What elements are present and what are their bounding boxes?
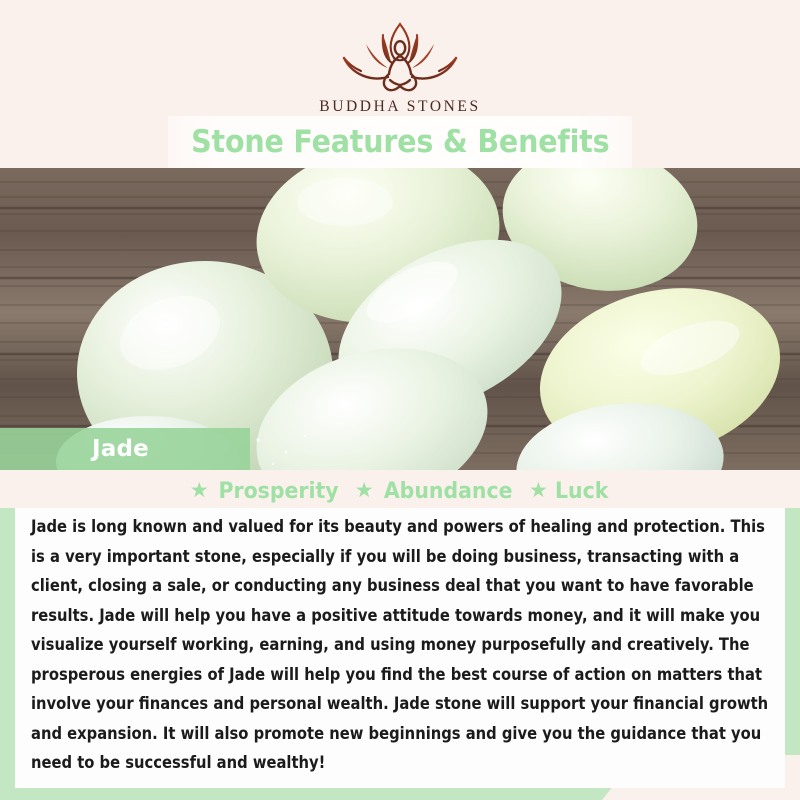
star-icon: ★ — [355, 480, 374, 501]
card-content: ★ Prosperity ★ Abundance ★ Luck Jade is … — [0, 470, 800, 800]
benefit-item: ★ Luck — [529, 479, 610, 504]
description-text: Jade is long known and valued for its be… — [31, 512, 770, 778]
star-icon: ★ — [190, 480, 209, 501]
benefit-label: Prosperity — [218, 479, 338, 504]
benefits-row: ★ Prosperity ★ Abundance ★ Luck — [0, 470, 800, 508]
brand-name: BUDDHA STONES — [0, 98, 800, 116]
stone-name: Jade — [92, 436, 149, 462]
stone-photo-image — [0, 168, 800, 470]
star-icon: ★ — [529, 480, 548, 501]
benefit-item: ★ Prosperity — [190, 479, 343, 504]
benefit-item: ★ Abundance — [355, 479, 517, 504]
description-panel: Jade is long known and valued for its be… — [15, 508, 785, 788]
page-title: Stone Features & Benefits — [191, 124, 609, 160]
benefit-label: Abundance — [383, 479, 512, 504]
benefit-label: Luck — [555, 479, 608, 504]
stone-name-banner: Jade — [0, 428, 250, 470]
stone-info-card: BUDDHA STONES Stone Features & Benefits — [0, 0, 800, 800]
stone-photo — [0, 168, 800, 470]
title-banner: Stone Features & Benefits — [168, 116, 632, 168]
lotus-meditation-icon — [326, 18, 474, 96]
brand-logo: BUDDHA STONES — [0, 18, 800, 116]
